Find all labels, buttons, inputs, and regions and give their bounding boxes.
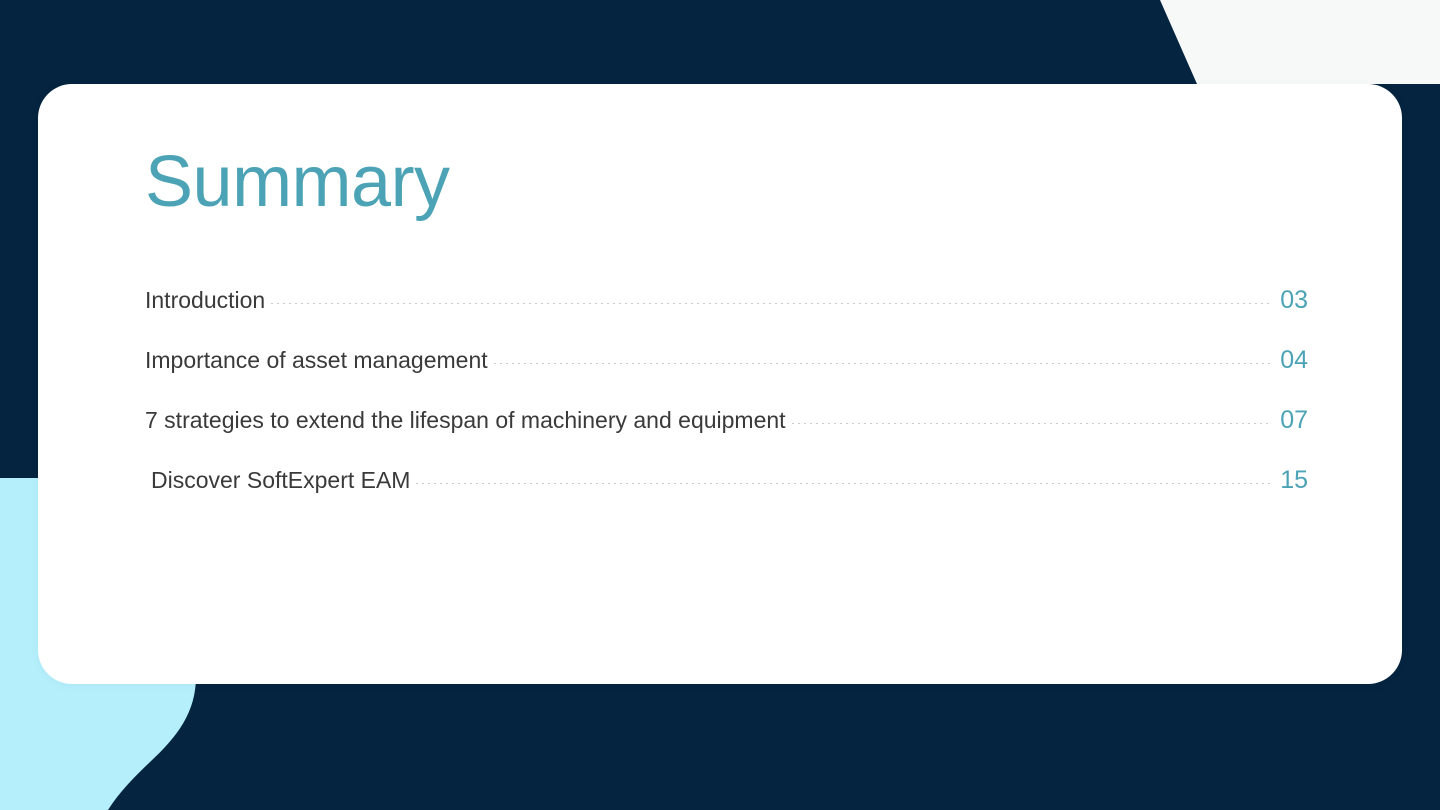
page-title: Summary <box>145 141 1308 223</box>
toc-entry-discover-softexpert-eam[interactable]: Discover SoftExpert EAM 15 <box>145 466 1308 526</box>
toc-leader-dots <box>414 483 1270 484</box>
summary-slide: Summary Introduction 03 Importance of as… <box>0 0 1440 810</box>
toc-leader-dots <box>790 423 1270 424</box>
toc-leader-dots <box>269 303 1270 304</box>
card-content: Summary Introduction 03 Importance of as… <box>145 141 1308 684</box>
toc-leader-dots <box>492 363 1270 364</box>
toc-label: Importance of asset management <box>145 346 488 374</box>
content-card: Summary Introduction 03 Importance of as… <box>38 84 1402 684</box>
toc-entry-introduction[interactable]: Introduction 03 <box>145 286 1308 346</box>
toc-entry-importance-of-asset-management[interactable]: Importance of asset management 04 <box>145 346 1308 406</box>
toc-entry-7-strategies[interactable]: 7 strategies to extend the lifespan of m… <box>145 406 1308 466</box>
toc-label: Introduction <box>145 286 265 314</box>
toc-label: Discover SoftExpert EAM <box>145 466 410 494</box>
toc-label: 7 strategies to extend the lifespan of m… <box>145 406 786 434</box>
table-of-contents: Introduction 03 Importance of asset mana… <box>145 286 1308 526</box>
toc-page-number: 03 <box>1274 286 1308 314</box>
toc-page-number: 07 <box>1274 406 1308 434</box>
toc-page-number: 15 <box>1274 466 1308 494</box>
toc-page-number: 04 <box>1274 346 1308 374</box>
